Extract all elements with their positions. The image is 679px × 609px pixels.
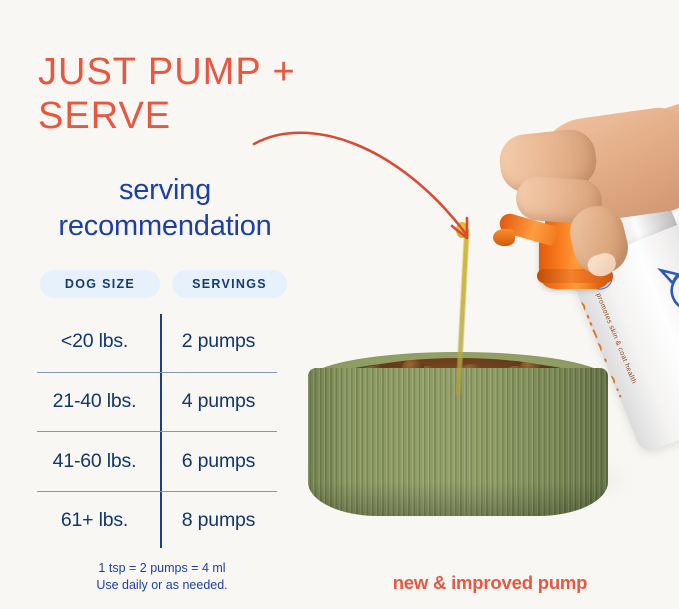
cell-servings: 6 pumps <box>160 450 277 473</box>
bowl-base-shadow <box>308 482 608 516</box>
table-row: <20 lbs. 2 pumps <box>37 312 277 372</box>
footnote-line-1: 1 tsp = 2 pumps = 4 ml <box>37 560 287 577</box>
poster-canvas: JUST PUMP + SERVE serving recommendation… <box>0 0 679 609</box>
table-row: 61+ lbs. 8 pumps <box>37 491 277 551</box>
column-header-dog-size: DOG SIZE <box>40 270 160 298</box>
footnote: 1 tsp = 2 pumps = 4 ml Use daily or as n… <box>37 560 287 594</box>
cell-servings: 2 pumps <box>160 330 277 353</box>
cell-servings: 4 pumps <box>160 390 277 413</box>
serving-table: <20 lbs. 2 pumps 21-40 lbs. 4 pumps 41-6… <box>37 312 277 550</box>
cell-dog-size: 41-60 lbs. <box>37 450 160 473</box>
table-row: 41-60 lbs. 6 pumps <box>37 431 277 491</box>
cell-servings: 8 pumps <box>160 509 277 532</box>
cell-dog-size: <20 lbs. <box>37 330 160 353</box>
cell-dog-size: 61+ lbs. <box>37 509 160 532</box>
column-header-servings: SERVINGS <box>172 270 287 298</box>
table-header-row: DOG SIZE SERVINGS <box>40 270 298 298</box>
product-photo: OMEGA OIL promotes skin & coat health <box>288 0 679 609</box>
cell-dog-size: 21-40 lbs. <box>37 390 160 413</box>
curved-arrow-icon <box>248 118 508 258</box>
table-row: 21-40 lbs. 4 pumps <box>37 372 277 432</box>
footnote-line-2: Use daily or as needed. <box>37 577 287 594</box>
